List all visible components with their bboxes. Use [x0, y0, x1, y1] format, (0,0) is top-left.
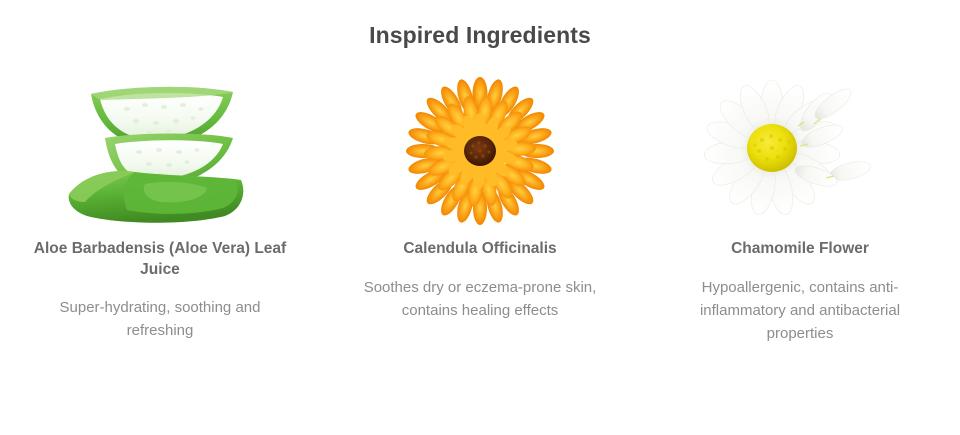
ingredient-name: Calendula Officinalis [385, 238, 574, 259]
ingredient-card-calendula: Calendula Officinalis Soothes dry or ecz… [320, 63, 640, 345]
ingredients-list: Aloe Barbadensis (Aloe Vera) Leaf Juice … [0, 63, 960, 345]
ingredient-description: Soothes dry or eczema-prone skin, contai… [320, 276, 640, 322]
title-slot: Calendula Officinalis [385, 238, 574, 262]
inspired-ingredients-section: Inspired Ingredients [0, 0, 960, 435]
aloe-vera-leaf-slices-image [10, 63, 310, 238]
ingredient-name: Aloe Barbadensis (Aloe Vera) Leaf Juice [0, 238, 323, 280]
title-slot: Aloe Barbadensis (Aloe Vera) Leaf Juice [0, 238, 323, 282]
chamomile-illustration [700, 76, 900, 226]
title-slot: Chamomile Flower [713, 238, 887, 262]
ingredient-card-chamomile: Chamomile Flower Hypoallergenic, contain… [640, 63, 960, 345]
ingredient-card-aloe: Aloe Barbadensis (Aloe Vera) Leaf Juice … [0, 63, 320, 345]
calendula-officinalis-flower-image [330, 63, 630, 238]
page-title: Inspired Ingredients [0, 0, 960, 49]
ingredient-name: Chamomile Flower [713, 238, 887, 259]
calendula-illustration [405, 76, 555, 226]
aloe-vera-illustration [65, 76, 255, 226]
ingredient-description: Super-hydrating, soothing and refreshing [5, 296, 315, 342]
chamomile-flower-image [650, 63, 950, 238]
ingredient-description: Hypoallergenic, contains anti-inflammato… [650, 276, 950, 345]
